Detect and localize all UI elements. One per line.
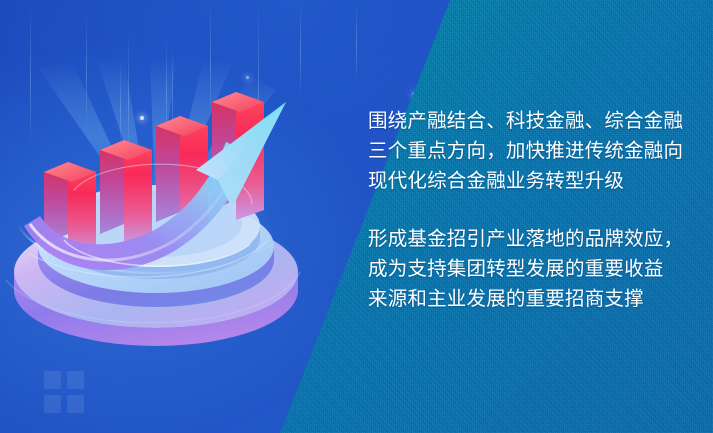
grid-squares-watermark	[44, 371, 84, 413]
paragraph-2-line-2: 成为支持集团转型发展的重要收益	[368, 254, 688, 284]
paragraph-1: 围绕产融结合、科技金融、综合金融 三个重点方向，加快推进传统金融向 现代化综合金…	[368, 106, 688, 196]
paragraph-2-line-1: 形成基金招引产业落地的品牌效应，	[368, 224, 688, 254]
paragraph-2-line-3: 来源和主业发展的重要招商支撑	[368, 284, 688, 314]
paragraph-1-line-2: 三个重点方向，加快推进传统金融向	[368, 136, 688, 166]
growth-chart-illustration	[0, 58, 330, 358]
paragraph-1-line-1: 围绕产融结合、科技金融、综合金融	[368, 106, 688, 136]
paragraph-1-line-3: 现代化综合金融业务转型升级	[368, 166, 688, 196]
bar-2	[100, 140, 152, 244]
paragraph-2: 形成基金招引产业落地的品牌效应， 成为支持集团转型发展的重要收益 来源和主业发展…	[368, 224, 688, 314]
slide-canvas: 围绕产融结合、科技金融、综合金融 三个重点方向，加快推进传统金融向 现代化综合金…	[0, 0, 713, 433]
copy-block: 围绕产融结合、科技金融、综合金融 三个重点方向，加快推进传统金融向 现代化综合金…	[368, 106, 688, 314]
